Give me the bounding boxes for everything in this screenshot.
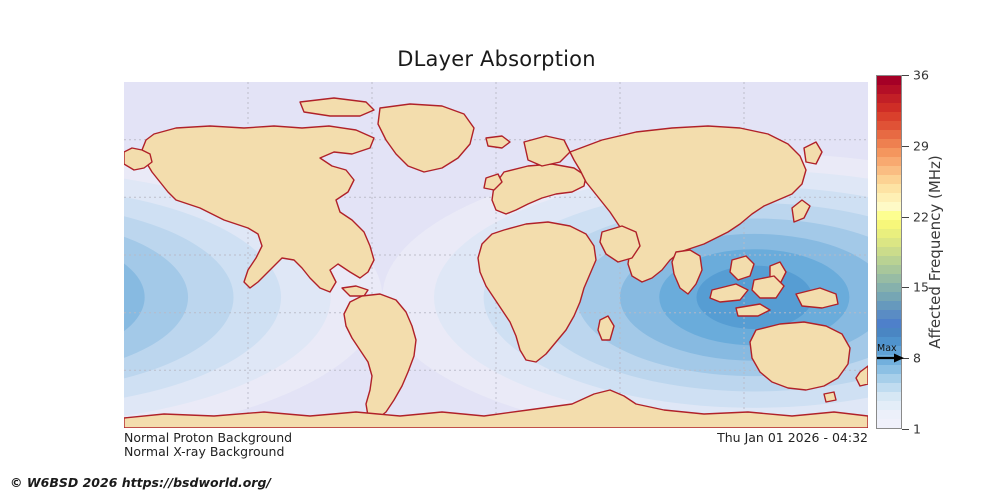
colorbar-band-18: [877, 238, 901, 247]
colorbar-band-5: [877, 121, 901, 130]
colorbar-band-7: [877, 139, 901, 148]
colorbar-tick-mark-22: [902, 217, 909, 218]
colorbar-band-31: [877, 355, 901, 364]
colorbar-band-38: [877, 419, 901, 428]
colorbar-band-21: [877, 265, 901, 274]
page-title: DLayer Absorption: [124, 47, 869, 71]
colorbar-band-13: [877, 193, 901, 202]
colorbar-band-14: [877, 202, 901, 211]
dlayer-absorption-page: DLayer Absorption: [0, 0, 1000, 500]
colorbar-band-15: [877, 211, 901, 220]
colorbar-axis-label-text: Affected Frequency (MHz): [926, 155, 944, 349]
colorbar-band-10: [877, 166, 901, 175]
colorbar-band-27: [877, 319, 901, 328]
colorbar-band-26: [877, 310, 901, 319]
note-xray-background: Normal X-ray Background: [124, 444, 284, 459]
colorbar-band-8: [877, 148, 901, 157]
timestamp-label: Thu Jan 01 2026 - 04:32: [600, 430, 868, 445]
colorbar-band-0: [877, 76, 901, 85]
colorbar-tick-mark-29: [902, 146, 909, 147]
colorbar-band-28: [877, 328, 901, 337]
colorbar-band-29: [877, 337, 901, 346]
colorbar-tick-mark-15: [902, 287, 909, 288]
colorbar-band-4: [877, 112, 901, 121]
colorbar-tick-mark-1: [902, 429, 909, 430]
colorbar-band-1: [877, 85, 901, 94]
colorbar-band-30: [877, 346, 901, 355]
land-southeast-asia: [730, 256, 754, 280]
note-proton-background: Normal Proton Background: [124, 430, 292, 445]
world-map-panel[interactable]: [124, 82, 868, 428]
land-tasmania: [824, 392, 836, 402]
colorbar-band-2: [877, 94, 901, 103]
colorbar-band-19: [877, 247, 901, 256]
colorbar-band-20: [877, 256, 901, 265]
colorbar-band-17: [877, 229, 901, 238]
colorbar-tick-label-8: 8: [913, 351, 921, 366]
colorbar-band-35: [877, 392, 901, 401]
colorbar-band-23: [877, 283, 901, 292]
colorbar[interactable]: [876, 75, 902, 429]
colorbar-band-22: [877, 274, 901, 283]
colorbar-band-34: [877, 383, 901, 392]
colorbar-band-37: [877, 410, 901, 419]
colorbar-band-6: [877, 130, 901, 139]
colorbar-band-9: [877, 157, 901, 166]
colorbar-axis-label: Affected Frequency (MHz): [924, 75, 946, 429]
colorbar-band-36: [877, 401, 901, 410]
colorbar-band-33: [877, 374, 901, 383]
colorbar-tick-label-1: 1: [913, 422, 921, 437]
colorbar-band-32: [877, 365, 901, 374]
colorbar-band-25: [877, 301, 901, 310]
credit-label: © W6BSD 2026 https://bsdworld.org/: [10, 475, 271, 490]
colorbar-tick-mark-8: [902, 358, 909, 359]
colorbar-gradient: [876, 75, 902, 429]
colorbar-band-16: [877, 220, 901, 229]
colorbar-band-11: [877, 175, 901, 184]
colorbar-band-12: [877, 184, 901, 193]
colorbar-band-24: [877, 292, 901, 301]
colorbar-tick-mark-36: [902, 75, 909, 76]
colorbar-band-3: [877, 103, 901, 112]
world-map-svg: [124, 82, 868, 428]
